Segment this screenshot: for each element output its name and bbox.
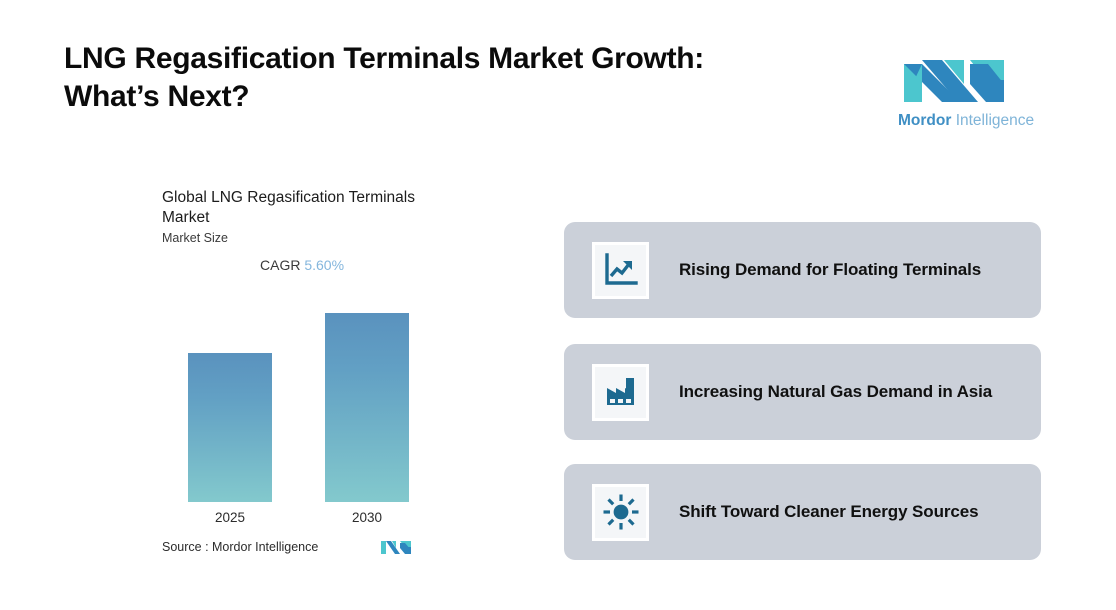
cagr-label: CAGR — [260, 257, 300, 273]
mordor-intelligence-mark-icon — [380, 538, 412, 556]
highlight-card-1[interactable]: Rising Demand for Floating Terminals — [564, 222, 1041, 318]
highlight-card-2[interactable]: Increasing Natural Gas Demand in Asia — [564, 344, 1041, 440]
mordor-intelligence-logo-icon — [898, 50, 1010, 108]
factory-icon — [592, 364, 649, 421]
page-title-line-2: What’s Next? — [64, 78, 824, 116]
sun-icon — [592, 484, 649, 541]
brand-wordmark-bold: Mordor — [898, 112, 951, 129]
page-title: LNG Regasification Terminals Market Grow… — [64, 40, 824, 116]
brand-logo: Mordor Intelligence — [898, 50, 1016, 134]
highlight-card-3-label: Shift Toward Cleaner Energy Sources — [679, 501, 978, 523]
chart-title: Global LNG Regasification Terminals Mark… — [162, 188, 427, 228]
highlight-card-2-label: Increasing Natural Gas Demand in Asia — [679, 381, 992, 403]
chart-block: Global LNG Regasification Terminals Mark… — [162, 188, 492, 558]
cagr-annotation: CAGR 5.60% — [260, 257, 492, 273]
brand-wordmark: Mordor Intelligence — [898, 112, 1016, 130]
chart-subtitle: Market Size — [162, 231, 492, 245]
highlight-card-1-label: Rising Demand for Floating Terminals — [679, 259, 981, 281]
page-title-line-1: LNG Regasification Terminals Market Grow… — [64, 40, 824, 78]
chart-source: Source : Mordor Intelligence — [162, 538, 452, 560]
cagr-value: 5.60% — [304, 257, 344, 273]
chart-source-text: Source : Mordor Intelligence — [162, 540, 318, 554]
highlight-card-3[interactable]: Shift Toward Cleaner Energy Sources — [564, 464, 1041, 560]
brand-wordmark-light: Intelligence — [951, 112, 1034, 129]
line-chart-growth-icon — [592, 242, 649, 299]
